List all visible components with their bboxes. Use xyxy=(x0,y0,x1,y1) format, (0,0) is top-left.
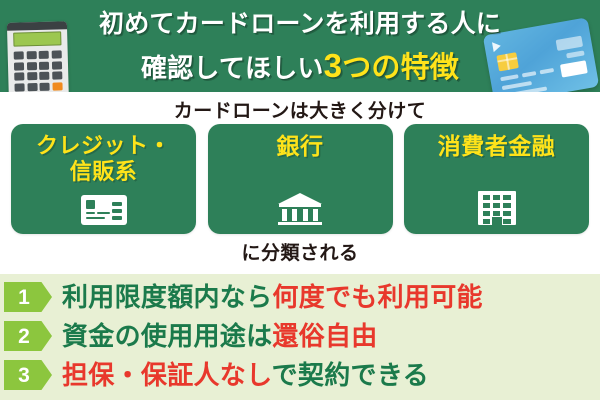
feature-number: 3 xyxy=(18,365,30,386)
building-window xyxy=(503,203,510,208)
feature-text: 資金の使用用途は還俗自由 xyxy=(62,323,378,349)
feature-row: 1 利用限度額内なら何度でも利用可能 xyxy=(0,278,600,316)
header-title-plain: 確認してほしい xyxy=(141,53,324,83)
header-title-highlight: 3つの特徴 xyxy=(324,52,459,84)
bank-column xyxy=(303,209,308,221)
category-card-consumer-finance[interactable]: 消費者金融 xyxy=(404,124,589,234)
building-door xyxy=(492,217,502,225)
feature-text-part-2: で契約できる xyxy=(272,360,429,390)
categories-section: カードローンは大きく分けて クレジット・ 信販系 xyxy=(0,92,600,274)
feature-number-badge: 2 xyxy=(4,321,52,351)
building-window xyxy=(503,211,510,216)
bank-base xyxy=(279,204,321,207)
header-title-group: 初めてカードローンを利用する人に 確認してほしい3つの特徴 xyxy=(0,4,600,89)
building-window xyxy=(503,195,510,200)
category-icon-wrap xyxy=(404,191,589,225)
feature-text-part-1: 担保・保証人なし xyxy=(62,360,272,390)
feature-text-part-2: 何度でも利用可能 xyxy=(272,282,482,312)
feature-number-badge: 1 xyxy=(4,282,52,312)
bank-column xyxy=(282,209,287,221)
feature-row: 2 資金の使用用途は還俗自由 xyxy=(0,317,600,355)
card-detail-bar xyxy=(112,209,122,213)
categories-lead-text: カードローンは大きく分けて xyxy=(0,96,600,123)
card-detail-bar xyxy=(86,217,105,219)
card-detail-bar xyxy=(112,216,122,220)
category-label: 消費者金融 xyxy=(404,133,589,159)
feature-number: 2 xyxy=(18,326,30,347)
card-detail-bar xyxy=(86,212,95,214)
building-window xyxy=(493,211,500,216)
feature-text-part-2: 還俗自由 xyxy=(272,321,377,351)
building-window xyxy=(503,219,510,224)
feature-text-part-1: 資金の使用用途は xyxy=(62,321,272,351)
category-label-line-2: 信販系 xyxy=(70,159,138,184)
infographic-root: 初めてカードローンを利用する人に 確認してほしい3つの特徴 カードローンは大きく… xyxy=(0,0,600,400)
category-icon-wrap xyxy=(208,191,393,225)
card-detail-bar xyxy=(97,212,110,214)
building-window xyxy=(493,203,500,208)
office-building-icon xyxy=(478,191,516,225)
feature-text: 利用限度額内なら何度でも利用可能 xyxy=(62,284,483,310)
bank-columns xyxy=(282,209,318,221)
category-card-bank[interactable]: 銀行 xyxy=(208,124,393,234)
category-label: 銀行 xyxy=(208,133,393,159)
feature-number: 1 xyxy=(18,287,30,308)
feature-text-part-1: 利用限度額内なら xyxy=(62,282,272,312)
bank-roof xyxy=(278,193,322,204)
building-window xyxy=(493,195,500,200)
building-window xyxy=(483,211,490,216)
building-window xyxy=(483,195,490,200)
bank-building-icon xyxy=(278,193,322,225)
header-title-line-2: 確認してほしい3つの特徴 xyxy=(0,45,600,89)
bank-column xyxy=(292,209,297,221)
feature-row: 3 担保・保証人なしで契約できる xyxy=(0,356,600,394)
category-card-credit[interactable]: クレジット・ 信販系 xyxy=(11,124,196,234)
feature-text: 担保・保証人なしで契約できる xyxy=(62,362,429,388)
bank-floor xyxy=(278,222,322,225)
bank-column xyxy=(313,209,318,221)
credit-card-icon xyxy=(81,195,127,225)
card-detail-bar xyxy=(112,202,122,206)
header-title-line-1: 初めてカードローンを利用する人に xyxy=(0,4,600,45)
header-title-number: 3 xyxy=(324,47,343,84)
card-chip-icon xyxy=(86,200,95,209)
features-section: 1 利用限度額内なら何度でも利用可能 2 資金の使用用途は還俗自由 3 担保・保… xyxy=(0,274,600,400)
category-card-list: クレジット・ 信販系 銀行 xyxy=(11,124,589,234)
category-label: クレジット・ 信販系 xyxy=(11,133,196,185)
categories-closing-text: に分類される xyxy=(0,238,600,265)
header-banner: 初めてカードローンを利用する人に 確認してほしい3つの特徴 xyxy=(0,0,600,92)
category-label-line-1: クレジット・ xyxy=(36,133,171,158)
building-window xyxy=(483,219,490,224)
header-title-suffix: つの特徴 xyxy=(342,52,459,84)
feature-number-badge: 3 xyxy=(4,360,52,390)
category-icon-wrap xyxy=(11,191,196,225)
building-window xyxy=(483,203,490,208)
